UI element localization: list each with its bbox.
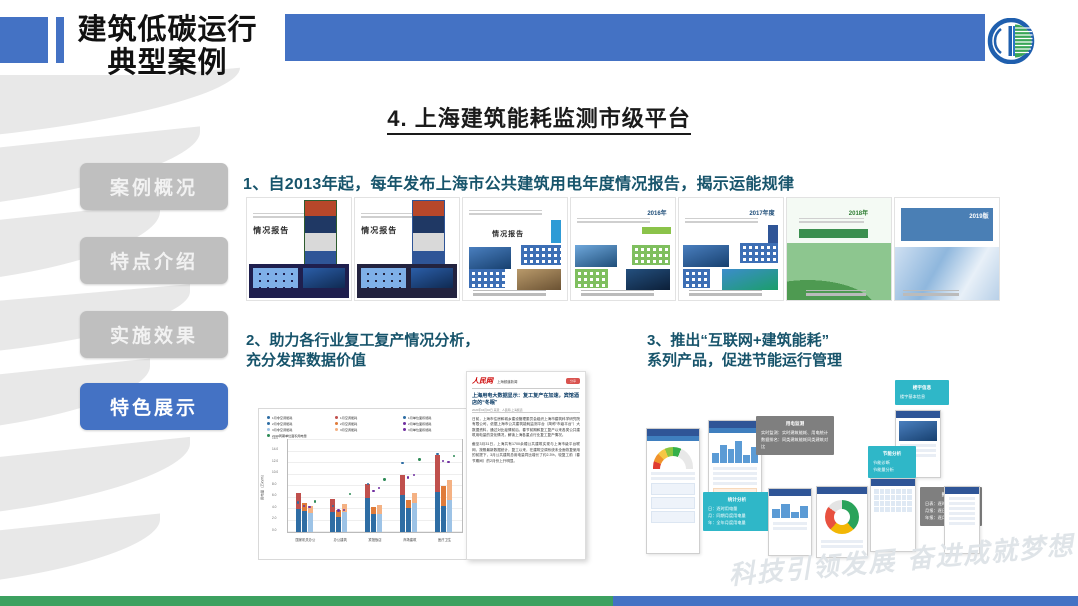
newspaper-paragraph: 日前，上海市住房和城乡建设管理委员会组织上海市建筑科学研究院有限公司，依据上海市… xyxy=(472,417,580,439)
callout-line: 数据排名：同类建筑能耗同类建筑对比 xyxy=(761,437,828,449)
chart-bar-group xyxy=(365,440,382,532)
chart-marker-point xyxy=(436,453,438,455)
sidebar-item-label: 特色展示 xyxy=(110,393,198,420)
chart-bar xyxy=(302,440,307,532)
decorative-swoosh xyxy=(0,437,190,518)
chart-x-tick-label: 医疗卫生 xyxy=(438,537,451,542)
chart-bar xyxy=(296,440,301,532)
gauge-icon xyxy=(653,447,693,469)
chart-bar xyxy=(377,440,382,532)
footer-bar-green xyxy=(0,596,613,606)
chart-marker-point xyxy=(418,458,420,460)
chart-marker-point xyxy=(401,462,403,464)
callout-line: 节能量分析 xyxy=(873,467,894,472)
chart-marker-point xyxy=(383,478,385,480)
chart-bar xyxy=(371,440,376,532)
app-screen-dashboard xyxy=(646,428,700,554)
chart-y-tick-label: 2.0 xyxy=(272,516,276,520)
callout-title: 节能分析 xyxy=(873,450,911,457)
newspaper-clipping: 人民网 上海频道新闻 分享 上海用电大数据显示：复工复产在加速，宾馆酒店的“冬眠… xyxy=(466,371,586,560)
chart-legend-item: 2月非空调能耗 xyxy=(267,421,329,426)
recovery-bar-chart: 1月非空调能耗1月空调能耗1月单位面积能耗2月非空调能耗2月空调能耗2月单位面积… xyxy=(258,408,472,560)
chart-legend-item: 2月单位面积能耗 xyxy=(403,421,465,426)
report-cover-year: 2018年 xyxy=(849,208,868,217)
app-screen-statistics xyxy=(768,488,812,556)
chart-x-tick-label: 国家机关办公 xyxy=(296,537,316,542)
deck-title-line-2: 典型案例 xyxy=(60,47,275,80)
chart-y-tick-label: 0.0 xyxy=(272,528,276,532)
report-cover-year: 2016年 xyxy=(647,208,666,217)
report-cover: 2019版 xyxy=(894,197,1000,301)
header-accent-block-left xyxy=(0,17,48,63)
chart-bar-group xyxy=(330,440,347,532)
chart-legend-item: 3月单位面积能耗 xyxy=(403,427,465,432)
chart-bar-group xyxy=(400,440,417,532)
newspaper-section: 上海频道新闻 xyxy=(497,379,517,384)
chart-legend-item: 1月非空调能耗 xyxy=(267,415,329,420)
callout-line: 实时监测：实时建筑能耗、用电统计 xyxy=(761,430,828,435)
page-title-text: 4. 上海建筑能耗监测市级平台 xyxy=(387,106,690,135)
report-cover: 情况报告 xyxy=(462,197,568,301)
chart-marker-point xyxy=(453,455,455,457)
chart-legend-item: 3月非空调能耗 xyxy=(267,427,329,432)
chart-bar xyxy=(308,440,313,532)
report-cover: 情况报告 xyxy=(354,197,460,301)
institute-emblem-logo xyxy=(985,18,1037,64)
newspaper-headline: 上海用电大数据显示：复工复产在加速，宾馆酒店的“冬眠” xyxy=(467,389,585,408)
callout-statistics-analysis: 统计分析 日：逐时用电量 月：同期月度用电量 年：全年月度用电量 xyxy=(703,492,771,531)
chart-x-tick-label: 宾馆饭店 xyxy=(368,537,381,542)
deck-title: 建筑低碳运行 典型案例 xyxy=(60,14,275,81)
callout-line: 月：同期月度用电量 xyxy=(708,513,746,518)
callout-title: 用电监测 xyxy=(761,420,829,427)
sidebar-item-case-overview[interactable]: 案例概况 xyxy=(80,163,228,210)
sidebar-item-implementation-effect[interactable]: 实施效果 xyxy=(80,311,228,358)
chart-bar xyxy=(412,440,417,532)
callout-line: 节能诊断 xyxy=(873,460,890,465)
chart-y-tick-label: 4.0 xyxy=(272,505,276,509)
newspaper-paragraph: 截至3月31日，上海共有1700余幢公共建筑实现与上海市级平台联网，按照最新数据… xyxy=(472,442,580,464)
chart-marker-point xyxy=(447,461,449,463)
section-3-heading: 3、推出“互联网+建筑能耗” 系列产品，促进节能运行管理 xyxy=(647,331,842,372)
sidebar-item-label: 特点介绍 xyxy=(110,247,198,274)
chart-marker-point xyxy=(349,493,351,495)
report-cover-year: 2019版 xyxy=(969,211,988,220)
newspaper-body: 日前，上海市住房和城乡建设管理委员会组织上海市建筑科学研究院有限公司，依据上海市… xyxy=(467,413,585,472)
chart-legend-item: 1月单位面积能耗 xyxy=(403,415,465,420)
sidebar-item-label: 案例概况 xyxy=(110,173,198,200)
deck-title-line-1: 建筑低碳运行 xyxy=(60,14,275,47)
section-1-heading: 1、自2013年起，每年发布上海市公共建筑用电年度情况报告，揭示运能规律 xyxy=(243,170,794,194)
callout-power-monitoring: 用电监测 实时监测：实时建筑能耗、用电统计 数据排名：同类建筑能耗同类建筑对比 xyxy=(756,416,834,455)
sidebar-item-feature-intro[interactable]: 特点介绍 xyxy=(80,237,228,284)
chart-bar xyxy=(400,440,405,532)
chart-y-tick-label: 12.0 xyxy=(272,459,278,463)
chart-legend-item: 1月空调能耗 xyxy=(335,415,397,420)
section-2-heading: 2、助力各行业复工复产情况分析， 充分发挥数据价值 xyxy=(246,331,479,372)
chart-legend: 1月非空调能耗1月空调能耗1月单位面积能耗2月非空调能耗2月空调能耗2月单位面积… xyxy=(267,415,465,438)
callout-building-info: 楼宇信息 楼宇基本信息 xyxy=(895,380,949,405)
chart-y-tick-label: 6.0 xyxy=(272,493,276,497)
callout-energy-saving: 节能分析 节能诊断 节能量分析 xyxy=(868,446,916,478)
callout-line: 年：全年月度用电量 xyxy=(708,520,746,525)
chart-y-tick-label: 10.0 xyxy=(272,470,278,474)
chart-legend-item: 2月空调能耗 xyxy=(335,421,397,426)
callout-title: 楼宇信息 xyxy=(900,384,944,391)
report-covers-strip: 情况报告 情况报告 情况报告 2016年 xyxy=(246,197,1000,301)
report-cover: 2016年 xyxy=(570,197,676,301)
footer-bar-blue xyxy=(613,596,1078,606)
sidebar-item-feature-showcase[interactable]: 特色展示 xyxy=(80,383,228,430)
chart-bar xyxy=(336,440,341,532)
chart-bar xyxy=(406,440,411,532)
chart-bar xyxy=(330,440,335,532)
report-cover: 2017年度 xyxy=(678,197,784,301)
chart-legend-item: 3月空调能耗 xyxy=(335,427,397,432)
callout-line: 日：逐时用电量 xyxy=(708,506,737,511)
header-banner-bar xyxy=(285,14,985,61)
callout-line: 楼宇基本信息 xyxy=(900,394,925,399)
chart-x-tick-label: 商场建筑 xyxy=(403,537,416,542)
chart-y-axis-title: 用电量（万kWh） xyxy=(260,473,265,500)
chart-bar xyxy=(447,440,452,532)
slide-canvas: 建筑低碳运行 典型案例 4. 上海建筑能耗监测市级平台 案例概况 特点介绍 实施… xyxy=(0,0,1078,606)
chart-bar xyxy=(441,440,446,532)
chart-bar xyxy=(342,440,347,532)
share-badge[interactable]: 分享 xyxy=(566,378,580,384)
report-cover: 2018年 xyxy=(786,197,892,301)
chart-x-tick-label: 办公建筑 xyxy=(334,537,347,542)
callout-title: 统计分析 xyxy=(708,496,766,503)
newspaper-masthead: 人民网 上海频道新闻 分享 xyxy=(467,372,585,388)
report-cover-year: 2017年度 xyxy=(749,208,774,217)
sidebar-item-label: 实施效果 xyxy=(110,321,198,348)
chart-y-tick-label: 16.0 xyxy=(272,436,278,440)
chart-bar xyxy=(365,440,370,532)
decorative-swoosh xyxy=(0,513,160,586)
page-title: 4. 上海建筑能耗监测市级平台 xyxy=(0,101,1078,133)
chart-bar-group xyxy=(296,440,313,532)
report-cover: 情况报告 xyxy=(246,197,352,301)
chart-y-tick-label: 8.0 xyxy=(272,482,276,486)
chart-marker-point xyxy=(337,509,339,511)
chart-plot-area: 0.02.04.06.08.010.012.014.016.0国家机关办公办公建… xyxy=(287,439,463,533)
chart-y-tick-label: 14.0 xyxy=(272,447,278,451)
report-cover-title: 情况报告 xyxy=(492,229,556,239)
chart-marker-point xyxy=(314,500,316,502)
newspaper-logo: 人民网 xyxy=(472,376,493,386)
chart-marker-point xyxy=(372,490,374,492)
donut-chart-icon xyxy=(825,500,859,534)
